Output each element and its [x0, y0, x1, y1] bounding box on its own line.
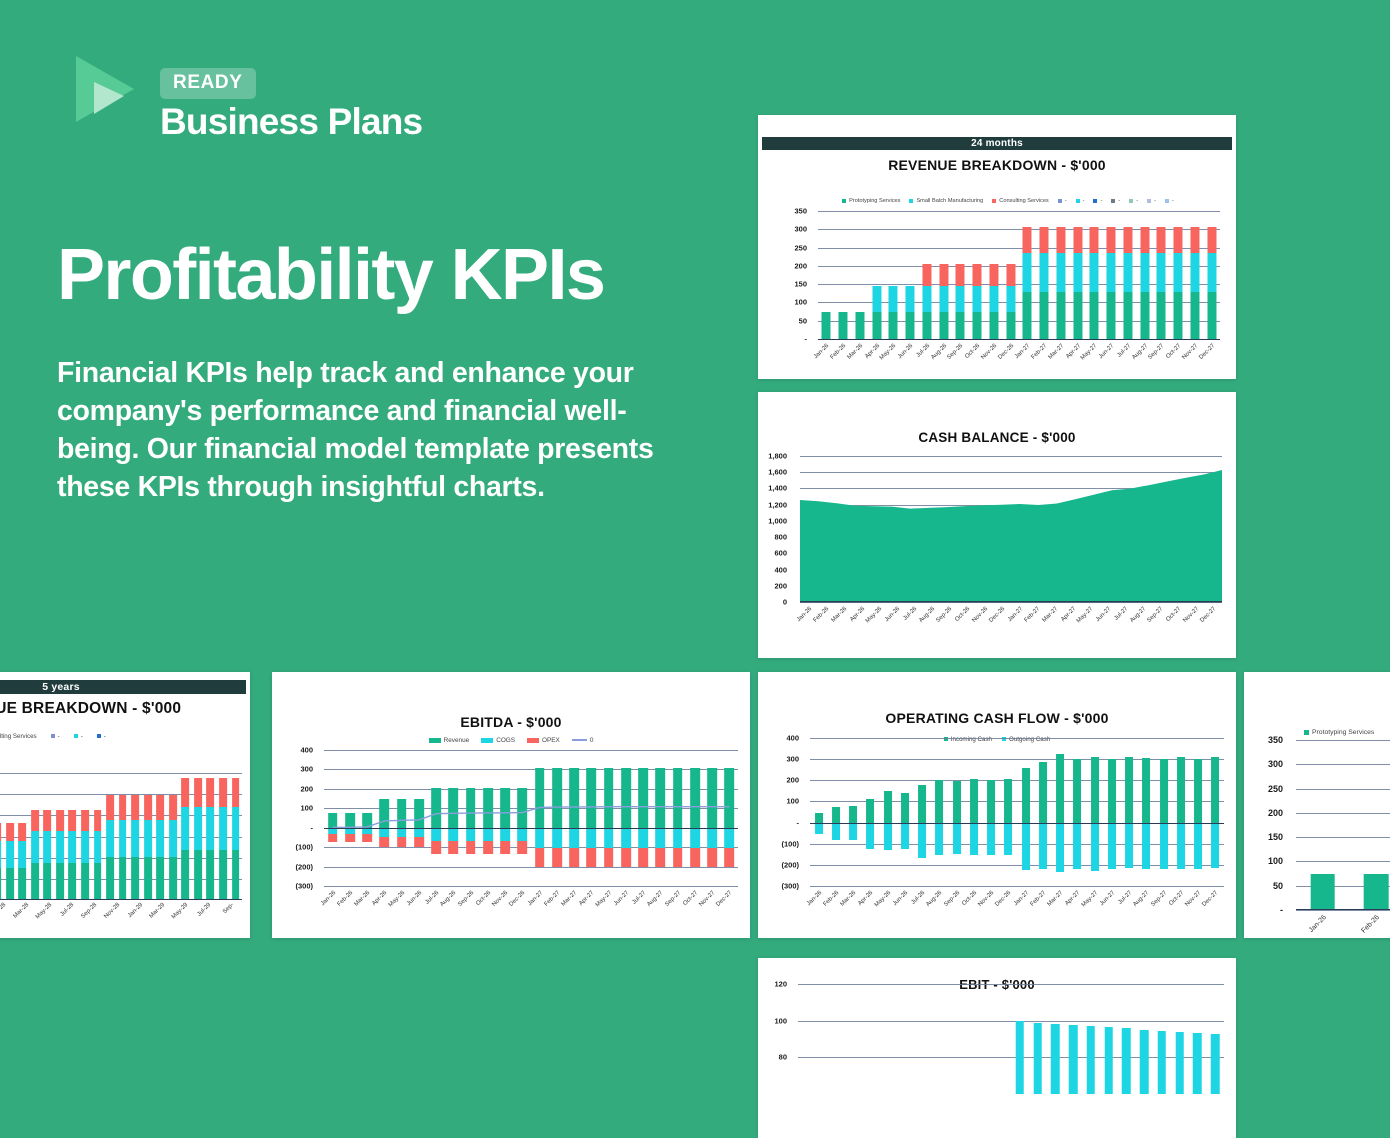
bar-segment [156, 857, 164, 900]
bar-segment [956, 264, 965, 286]
x-tick-label: Sep-26 [457, 890, 475, 908]
bar-slot[interactable] [1069, 738, 1086, 886]
y-tick-label: 150 [794, 280, 812, 289]
bar-slot[interactable] [1203, 211, 1220, 339]
bar-segment [1190, 227, 1199, 254]
bar-slot[interactable] [16, 752, 29, 900]
bar-segment [56, 831, 64, 863]
axis-line [0, 899, 242, 900]
card-operating-cash-flow[interactable]: OPERATING CASH FLOW - $'000 Incoming Cas… [758, 672, 1236, 938]
y-tick-label: 80 [779, 1053, 792, 1062]
bar-segment [1174, 253, 1183, 292]
legend-item[interactable]: - [1129, 198, 1138, 204]
bar-slot[interactable] [1069, 211, 1086, 339]
bar-slot[interactable] [1190, 738, 1207, 886]
bar-slot[interactable] [217, 752, 230, 900]
bar-slot[interactable] [976, 984, 994, 1094]
bar-slot[interactable] [993, 984, 1011, 1094]
bar-segment [119, 857, 127, 900]
bar-slot[interactable] [41, 752, 54, 900]
bar-slot[interactable] [1002, 211, 1019, 339]
x-tick-label: Mar-26 [354, 890, 372, 908]
x-tick-label: Dec-27 [716, 890, 734, 908]
bar-segment [1023, 253, 1032, 292]
x-tick-label: Mar-27 [561, 890, 579, 908]
bar-segment [1157, 253, 1166, 292]
bar-slot[interactable] [1135, 984, 1153, 1094]
bar-slot[interactable] [1138, 738, 1155, 886]
bar-slot[interactable] [167, 752, 180, 900]
x-tick-label: Sep-28 [80, 902, 98, 920]
bar-segment [194, 778, 202, 807]
card-cash-balance[interactable]: CASH BALANCE - $'000 02004006008001,0001… [758, 392, 1236, 658]
bar-slot[interactable] [1189, 984, 1207, 1094]
bar-segment [1091, 757, 1099, 823]
chart-title-cash-balance: CASH BALANCE - $'000 [758, 430, 1236, 445]
bar-slot[interactable] [948, 738, 965, 886]
bar-slot[interactable] [1036, 211, 1053, 339]
y-tick-label: 1,800 [768, 452, 792, 461]
bar-slot[interactable] [958, 984, 976, 1094]
bar-slot[interactable] [1029, 984, 1047, 1094]
bar-slot[interactable] [1086, 738, 1103, 886]
bar-slot[interactable] [1153, 211, 1170, 339]
bar-slot[interactable] [3, 752, 16, 900]
x-tick-label: Feb-27 [1031, 343, 1049, 361]
x-tick-label: Jan-29 [127, 902, 144, 919]
bar-slot[interactable] [1103, 738, 1120, 886]
legend-label: - [81, 733, 83, 740]
bar-segment [144, 820, 152, 857]
legend-item[interactable]: - [1111, 198, 1120, 204]
bar-slot[interactable] [229, 752, 242, 900]
bar-slot[interactable] [29, 752, 42, 900]
y-tick-label: (100) [781, 839, 804, 848]
bar-slot[interactable] [965, 738, 982, 886]
legend-ebitda: RevenueCOGSOPEX0 [272, 734, 750, 746]
bar-slot[interactable] [1103, 211, 1120, 339]
legend-swatch [74, 734, 78, 738]
bar-slot[interactable] [919, 211, 936, 339]
x-tick-label: Sep-27 [1150, 890, 1168, 908]
bar-slot[interactable] [1011, 984, 1029, 1094]
bar-slot[interactable] [1153, 984, 1171, 1094]
x-tick-label: Oct-26 [964, 343, 981, 360]
bar-slot[interactable] [116, 752, 129, 900]
y-tick-label: - [311, 823, 319, 832]
bar-segment [987, 823, 995, 855]
bar-segment [69, 863, 77, 900]
bar-segment [219, 850, 227, 900]
legend-item[interactable]: Prototyping Services [1304, 729, 1374, 736]
bar-segment [1175, 1032, 1184, 1094]
bar-slot[interactable] [1296, 740, 1350, 910]
bar-slot[interactable] [1170, 211, 1187, 339]
bar-segment [1160, 759, 1168, 822]
card-ebit[interactable]: EBIT - $'000 80100120 [758, 958, 1236, 1138]
play-triangle-icon [72, 52, 144, 126]
x-tick-label: Dec-26 [989, 606, 1007, 624]
bar-segment [119, 820, 127, 857]
bar-segment [989, 286, 998, 312]
x-tick-label: Apr-26 [849, 606, 866, 623]
x-tick-label: Jun-27 [1099, 890, 1116, 907]
legend-swatch [429, 738, 441, 743]
y-tick-label: 200 [794, 261, 812, 270]
bar-segment [1104, 1027, 1113, 1094]
x-tick-label: Mar-26 [840, 890, 858, 908]
bar-segment [1142, 758, 1150, 823]
bar-slot[interactable] [851, 984, 869, 1094]
legend-item[interactable]: - [1147, 198, 1156, 204]
bar-slot[interactable] [868, 211, 885, 339]
bar-segment [1006, 264, 1015, 286]
bar-segment [849, 823, 857, 841]
y-tick-label: 100 [1268, 856, 1288, 866]
y-tick-label: (200) [295, 862, 318, 871]
bar-slot[interactable] [66, 752, 79, 900]
bar-slot[interactable] [983, 738, 1000, 886]
bar-slot[interactable] [818, 211, 835, 339]
bar-segment [1056, 754, 1064, 822]
x-tick-label: Dec-27 [1198, 343, 1216, 361]
bar-slot[interactable] [91, 752, 104, 900]
bar-slot[interactable] [885, 211, 902, 339]
card-revenue-breakdown-zoom[interactable]: Prototyping Services -501001502002503003… [1244, 672, 1390, 938]
y-tick-label: 800 [774, 533, 792, 542]
legend-label: - [1083, 198, 1085, 204]
y-tick-label: 350 [794, 207, 812, 216]
bar-segment [1158, 1031, 1167, 1094]
bar-slot[interactable] [852, 211, 869, 339]
y-tick-label: 200 [774, 581, 792, 590]
legend-line-swatch [572, 739, 587, 741]
x-tick-label: Oct-27 [682, 890, 699, 907]
bar-slot[interactable] [1034, 738, 1051, 886]
chart-title-revenue-5y: REVENUE BREAKDOWN - $'000 [0, 700, 250, 718]
bar-segment [1040, 292, 1049, 339]
period-label-24-months: 24 months [762, 137, 1232, 150]
y-tick-label: 1,400 [768, 484, 792, 493]
bar-segment [18, 823, 26, 841]
bar-slot[interactable] [1000, 738, 1017, 886]
legend-revenue-24m: Prototyping ServicesSmall Batch Manufact… [788, 195, 1228, 207]
y-tick-label: 1,600 [768, 468, 792, 477]
y-tick-label: 100 [774, 1016, 792, 1025]
bar-segment [989, 312, 998, 339]
x-tick-label: Jan-26 [796, 606, 813, 623]
bar-slot[interactable] [798, 984, 816, 1094]
bar-segment [906, 286, 915, 312]
page-title: Profitability KPIs [57, 238, 604, 314]
bar-slot[interactable] [1064, 984, 1082, 1094]
x-tick-label: Jan-27 [1007, 606, 1024, 623]
x-tick-label: Feb-27 [543, 890, 561, 908]
legend-label: - [1136, 198, 1138, 204]
bar-segment [832, 807, 840, 823]
bar-segment [31, 863, 39, 900]
y-axis-cash-balance: 02004006008001,0001,2001,4001,6001,800 [758, 456, 792, 602]
bar-slot[interactable] [1207, 738, 1224, 886]
x-tick-label: Jun-27 [613, 890, 630, 907]
bar-segment [1056, 253, 1065, 292]
bar-slot[interactable] [1118, 984, 1136, 1094]
x-tick-label: Jun-27 [1095, 606, 1112, 623]
bar-segment [156, 820, 164, 857]
gridline [800, 602, 1222, 603]
y-tick-label: 120 [774, 980, 792, 989]
bar-slot[interactable] [935, 211, 952, 339]
x-tick-label: May-26 [879, 343, 897, 361]
bar-segment [901, 823, 909, 850]
bar-segment [1056, 292, 1065, 339]
bar-segment [6, 841, 14, 868]
legend-swatch [481, 738, 493, 743]
x-tick-label: Nov-26 [977, 890, 995, 908]
gridline [1296, 910, 1390, 911]
bar-slot[interactable] [922, 984, 940, 1094]
bar-slot[interactable] [1100, 984, 1118, 1094]
bar-segment [1056, 823, 1064, 872]
plot-area-revenue-24m [818, 211, 1220, 339]
bar-slot[interactable] [810, 738, 827, 886]
bar-segment [182, 778, 190, 807]
bar-segment [935, 823, 943, 855]
bar-slot[interactable] [1086, 211, 1103, 339]
x-tick-label: Jul-26 [425, 890, 441, 906]
bar-segment [43, 810, 51, 831]
bar-segment [18, 841, 26, 868]
x-tick-label: Jul-27 [1116, 343, 1132, 359]
bar-slot[interactable] [869, 984, 887, 1094]
legend-item[interactable]: COGS [481, 737, 515, 744]
bar-segment [1123, 227, 1132, 254]
x-tick-label: Jul-29 [196, 902, 212, 918]
bar-slot[interactable] [104, 752, 117, 900]
legend-label: Prototyping Services [1312, 729, 1374, 736]
legend-item[interactable]: - [51, 733, 60, 740]
legend-label: Small Batch Manufacturing [916, 198, 983, 204]
bar-segment [884, 791, 892, 822]
bar-slot[interactable] [887, 984, 905, 1094]
x-tick-label: Jan-27 [1013, 890, 1030, 907]
legend-label: OPEX [542, 737, 560, 744]
x-tick-label: Aug-27 [1131, 343, 1149, 361]
bar-segment [194, 850, 202, 900]
bar-slot[interactable] [931, 738, 948, 886]
legend-item[interactable]: Prototyping Services [842, 198, 900, 204]
bar-slot[interactable] [896, 738, 913, 886]
bar-slot[interactable] [986, 211, 1003, 339]
bar-slot[interactable] [1052, 738, 1069, 886]
legend-swatch [909, 199, 913, 203]
y-tick-label: 350 [1268, 735, 1288, 745]
bar-segment [1207, 292, 1216, 339]
bar-slot[interactable] [834, 984, 852, 1094]
legend-item[interactable]: OPEX [527, 737, 560, 744]
axis-line [810, 823, 1224, 824]
y-tick-label: 300 [1268, 759, 1288, 769]
x-tick-label: Jul-27 [1118, 890, 1134, 906]
y-tick-label: 100 [300, 804, 318, 813]
bar-segment [1190, 292, 1199, 339]
bar-slot[interactable] [845, 738, 862, 886]
bar-slot[interactable] [969, 211, 986, 339]
bar-slot[interactable] [862, 738, 879, 886]
bar-slot[interactable] [1019, 211, 1036, 339]
x-tick-label: Aug-26 [918, 606, 936, 624]
bar-segment [156, 795, 164, 820]
y-tick-label: 300 [786, 755, 804, 764]
bar-slot[interactable] [1017, 738, 1034, 886]
bar-slot[interactable] [1206, 984, 1224, 1094]
bar-slot[interactable] [141, 752, 154, 900]
x-tick-label: Dec-26 [997, 343, 1015, 361]
y-tick-label: 200 [300, 784, 318, 793]
legend-item[interactable]: 0 [572, 737, 594, 744]
bar-segment [973, 286, 982, 312]
bar-slot[interactable] [129, 752, 142, 900]
bar-segment [939, 286, 948, 312]
bar-segment [939, 312, 948, 339]
y-tick-label: 150 [1268, 832, 1288, 842]
bar-slot[interactable] [879, 738, 896, 886]
card-revenue-breakdown-5y[interactable]: 5 years REVENUE BREAKDOWN - $'000 Small … [0, 672, 250, 938]
legend-item[interactable]: - [1093, 198, 1102, 204]
period-label-5-years: 5 years [0, 680, 246, 694]
bar-segment [939, 264, 948, 286]
x-tick-label: Feb-26 [336, 890, 354, 908]
bar-slot[interactable] [204, 752, 217, 900]
x-axis-cash-balance: Jan-26Feb-26Mar-26Apr-26May-26Jun-26Jul-… [800, 606, 1222, 640]
x-tick-label: Nov-26 [980, 343, 998, 361]
bar-slot[interactable] [914, 738, 931, 886]
x-tick-label: May-26 [865, 606, 883, 624]
x-tick-label: Aug-26 [926, 890, 944, 908]
legend-item[interactable]: - [1058, 198, 1067, 204]
bar-segment [922, 286, 931, 312]
legend-item[interactable]: - [1076, 198, 1085, 204]
legend-item[interactable]: - [74, 733, 83, 740]
bar-slot[interactable] [179, 752, 192, 900]
bar-segment [970, 779, 978, 823]
plot-area-revenue-5y [0, 752, 242, 900]
bar-segment [18, 868, 26, 900]
x-tick-label: Jun-27 [1098, 343, 1115, 360]
bar-segment [849, 806, 857, 823]
bar-segment [1123, 292, 1132, 339]
bar-slot[interactable] [902, 211, 919, 339]
bar-segment [1087, 1026, 1096, 1094]
bar-segment [1022, 768, 1030, 822]
legend-swatch [97, 734, 101, 738]
bar-segment [144, 795, 152, 820]
y-tick-label: 100 [786, 797, 804, 806]
legend-swatch [1129, 199, 1133, 203]
card-ebitda[interactable]: EBITDA - $'000 RevenueCOGSOPEX0 (300)(20… [272, 672, 750, 938]
bar-slot[interactable] [1171, 984, 1189, 1094]
bar-segment [1190, 253, 1199, 292]
bar-segment [989, 264, 998, 286]
bar-slot[interactable] [1082, 984, 1100, 1094]
x-tick-label: Sep- [222, 902, 235, 915]
axis-line [1296, 909, 1390, 910]
bar-slot[interactable] [905, 984, 923, 1094]
bar-slot[interactable] [1120, 211, 1137, 339]
bar-slot[interactable] [1053, 211, 1070, 339]
bar-slot[interactable] [1172, 738, 1189, 886]
x-tick-label: Jan-28 [0, 902, 7, 919]
bar-slot[interactable] [1155, 738, 1172, 886]
x-tick-label: Sep-27 [664, 890, 682, 908]
bar-slot[interactable] [1047, 984, 1065, 1094]
bar-slot[interactable] [1121, 738, 1138, 886]
bar-segment [1004, 823, 1012, 855]
bar-slot[interactable] [54, 752, 67, 900]
brand-logo: READY Business Plans [72, 52, 422, 142]
x-tick-label: Mar-27 [1047, 343, 1065, 361]
bar-slot[interactable] [1350, 740, 1390, 910]
bar-slot[interactable] [1187, 211, 1204, 339]
bar-segment [1073, 292, 1082, 339]
legend-revenue-5y: Small Batch ManufacturingConsulting Serv… [0, 730, 244, 742]
chart-title-operating-cash-flow: OPERATING CASH FLOW - $'000 [758, 710, 1236, 726]
bar-slot[interactable] [192, 752, 205, 900]
bar-segment [69, 810, 77, 831]
bar-segment [1310, 874, 1335, 910]
legend-item[interactable]: Consulting Services [992, 198, 1048, 204]
y-tick-label: 0 [783, 598, 792, 607]
bar-segment [94, 863, 102, 900]
legend-item[interactable]: - [97, 733, 106, 740]
x-tick-label: Jul-26 [903, 606, 919, 622]
x-tick-label: Feb-27 [1024, 606, 1042, 624]
bar-slot[interactable] [1136, 211, 1153, 339]
bar-segment [872, 286, 881, 312]
legend-item[interactable]: Consulting Services [0, 733, 37, 740]
bar-slot[interactable] [952, 211, 969, 339]
legend-label: Consulting Services [999, 198, 1048, 204]
bar-slot[interactable] [154, 752, 167, 900]
bar-segment [1160, 823, 1168, 870]
x-tick-label: Sep-27 [1147, 606, 1165, 624]
bar-segment [1140, 1030, 1149, 1094]
bar-slot[interactable] [816, 984, 834, 1094]
legend-item[interactable]: Revenue [429, 737, 470, 744]
bar-segment [901, 793, 909, 823]
bar-segment [0, 868, 1, 900]
x-tick-label: Jul-27 [632, 890, 648, 906]
bar-slot[interactable] [827, 738, 844, 886]
bar-slot[interactable] [940, 984, 958, 1094]
legend-item[interactable]: - [1165, 198, 1174, 204]
y-tick-label: (300) [781, 882, 804, 891]
bar-segment [106, 795, 114, 820]
bar-segment [1006, 286, 1015, 312]
y-tick-label: 1,200 [768, 500, 792, 509]
x-tick-label: Aug-26 [440, 890, 458, 908]
x-tick-label: May-26 [873, 890, 891, 908]
bar-slot[interactable] [79, 752, 92, 900]
bar-segment [1140, 253, 1149, 292]
x-tick-label: Nov-26 [971, 606, 989, 624]
card-revenue-breakdown-24m[interactable]: 24 months REVENUE BREAKDOWN - $'000 Prot… [758, 115, 1236, 379]
y-tick-label: 250 [1268, 784, 1288, 794]
x-tick-label: May-27 [1080, 343, 1098, 361]
bar-slot[interactable] [835, 211, 852, 339]
bar-segment [144, 857, 152, 900]
legend-item[interactable]: Small Batch Manufacturing [909, 198, 983, 204]
